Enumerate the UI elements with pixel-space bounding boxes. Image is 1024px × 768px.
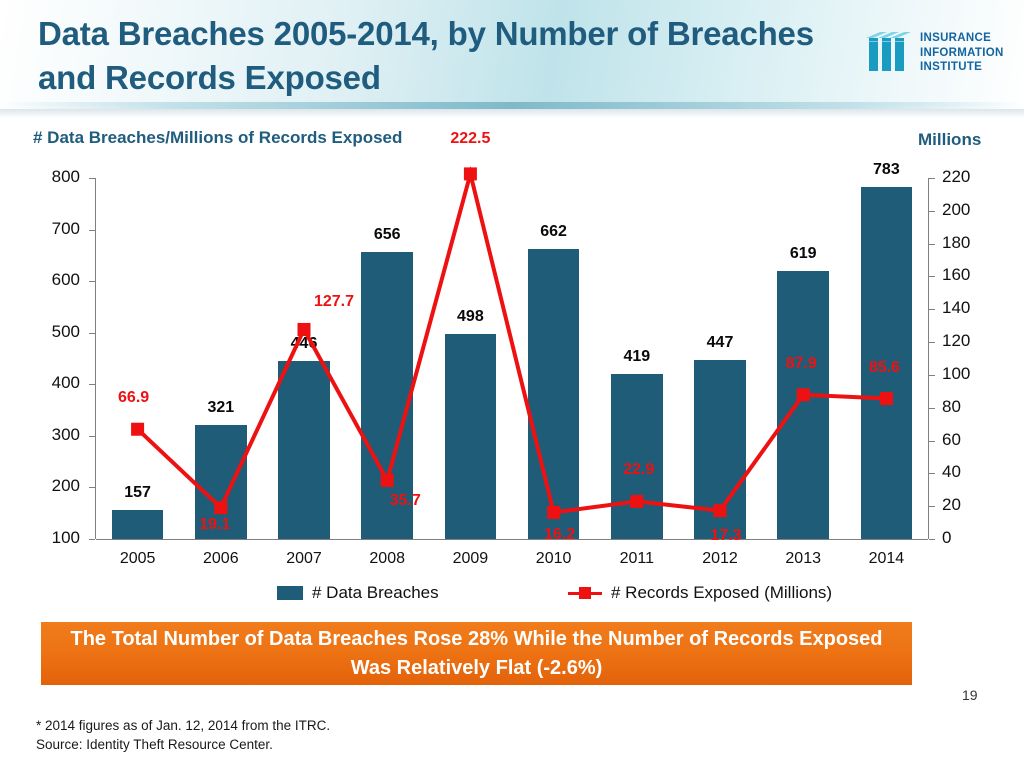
- left-axis-tick-label: 200: [18, 476, 80, 496]
- right-axis-tick-label: 200: [942, 200, 1002, 220]
- legend-label-bars: # Data Breaches: [312, 583, 439, 603]
- line-value-label-2008: 35.7: [360, 492, 450, 510]
- right-axis-tick: [929, 342, 935, 343]
- legend-line-marker-icon: [568, 586, 602, 600]
- left-axis-tick-label: 600: [18, 270, 80, 290]
- logo-line-1: INSURANCE: [920, 31, 1004, 46]
- left-axis-tick: [89, 178, 95, 179]
- x-axis-label-2007: 2007: [259, 550, 349, 568]
- line-value-label-2012: 17.3: [681, 527, 771, 545]
- right-axis-tick: [929, 441, 935, 442]
- right-axis-tick-label: 220: [942, 167, 1002, 187]
- right-axis-tick-label: 40: [942, 462, 1002, 482]
- takeaway-banner: The Total Number of Data Breaches Rose 2…: [41, 622, 912, 685]
- right-axis-tick: [929, 276, 935, 277]
- right-axis-tick-label: 140: [942, 298, 1002, 318]
- left-axis-tick: [89, 230, 95, 231]
- plot-region: 1002003004005006007008000204060801001201…: [96, 178, 928, 539]
- right-axis-tick: [929, 244, 935, 245]
- line-value-label-2011: 22.9: [594, 461, 684, 479]
- header-shadow: [0, 109, 1024, 118]
- legend-swatch-icon: [277, 586, 303, 600]
- left-axis-tick: [89, 384, 95, 385]
- right-axis-tick: [929, 375, 935, 376]
- x-axis-label-2006: 2006: [176, 550, 266, 568]
- x-axis-label-2009: 2009: [425, 550, 515, 568]
- legend-label-line: # Records Exposed (Millions): [611, 583, 832, 603]
- right-axis-tick: [929, 506, 935, 507]
- footnote-line-1: * 2014 figures as of Jan. 12, 2014 from …: [36, 716, 330, 735]
- line-value-label-2014: 85.6: [839, 359, 929, 377]
- page-number: 19: [962, 687, 978, 703]
- right-axis-tick: [929, 309, 935, 310]
- right-axis-tick-label: 120: [942, 331, 1002, 351]
- left-axis-tick-label: 300: [18, 425, 80, 445]
- right-axis-tick-label: 100: [942, 364, 1002, 384]
- bar-value-label-2014: 783: [841, 161, 931, 179]
- footnote: * 2014 figures as of Jan. 12, 2014 from …: [36, 716, 330, 754]
- right-axis-tick-label: 0: [942, 528, 1002, 548]
- line-value-label-2010: 16.2: [515, 526, 605, 544]
- right-axis-title: Millions: [918, 130, 981, 150]
- line-value-label-2009: 222.5: [425, 130, 515, 148]
- right-axis-tick-label: 20: [942, 495, 1002, 515]
- slide: Data Breaches 2005-2014, by Number of Br…: [0, 0, 1024, 768]
- x-axis-label-2011: 2011: [592, 550, 682, 568]
- right-axis-tick: [929, 211, 935, 212]
- right-axis-tick: [929, 408, 935, 409]
- header-underline: [0, 102, 1024, 109]
- right-axis-tick-label: 60: [942, 430, 1002, 450]
- line-value-label-2013: 87.9: [756, 355, 846, 373]
- page-title: Data Breaches 2005-2014, by Number of Br…: [38, 12, 858, 100]
- x-axis-label-2012: 2012: [675, 550, 765, 568]
- left-axis-tick-label: 700: [18, 219, 80, 239]
- left-axis-tick-label: 400: [18, 373, 80, 393]
- left-axis-tick: [89, 539, 95, 540]
- x-axis-label-2014: 2014: [841, 550, 931, 568]
- left-axis-tick-label: 100: [18, 528, 80, 548]
- logo-line-2: INFORMATION: [920, 46, 1004, 61]
- left-axis-tick: [89, 333, 95, 334]
- legend-item-bars: # Data Breaches: [277, 583, 439, 603]
- x-axis-label-2013: 2013: [758, 550, 848, 568]
- left-axis-tick: [89, 281, 95, 282]
- footnote-line-2: Source: Identity Theft Resource Center.: [36, 735, 330, 754]
- logo: INSURANCE INFORMATION INSTITUTE: [866, 29, 1011, 77]
- line-value-label-2006: 19.1: [170, 516, 260, 534]
- left-axis-tick: [89, 436, 95, 437]
- x-axis-label-2010: 2010: [509, 550, 599, 568]
- x-axis-line: [96, 539, 928, 540]
- left-axis-title: # Data Breaches/Millions of Records Expo…: [33, 128, 402, 148]
- x-axis-label-2008: 2008: [342, 550, 432, 568]
- left-axis-tick-label: 800: [18, 167, 80, 187]
- legend-item-line: # Records Exposed (Millions): [568, 583, 832, 603]
- chart-area: 1002003004005006007008000204060801001201…: [0, 155, 1024, 575]
- right-axis-tick-label: 180: [942, 233, 1002, 253]
- chart-legend: # Data Breaches # Records Exposed (Milli…: [0, 583, 1024, 611]
- right-axis-tick: [929, 473, 935, 474]
- x-axis-label-2005: 2005: [93, 550, 183, 568]
- right-axis-tick-label: 160: [942, 265, 1002, 285]
- line-value-label-2007: 127.7: [289, 293, 379, 311]
- line-value-label-2005: 66.9: [89, 389, 179, 407]
- logo-line-3: INSTITUTE: [920, 60, 1004, 75]
- right-axis-tick-label: 80: [942, 397, 1002, 417]
- left-axis-tick-label: 500: [18, 322, 80, 342]
- logo-text: INSURANCE INFORMATION INSTITUTE: [920, 31, 1004, 75]
- iii-bars-logo-icon: [866, 32, 912, 72]
- right-axis-tick: [929, 539, 935, 540]
